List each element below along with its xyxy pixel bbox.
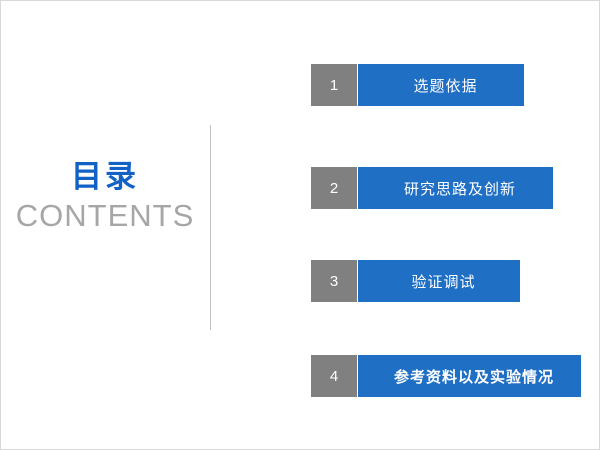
toc-item-3-number: 3 [311,260,357,302]
toc-item-3[interactable]: 3 验证调试 [311,260,520,302]
vertical-divider [210,125,211,330]
toc-item-2[interactable]: 2 研究思路及创新 [311,167,553,209]
toc-item-2-number: 2 [311,167,357,209]
toc-item-1[interactable]: 1 选题依据 [311,64,524,106]
slide-canvas: 目录 CONTENTS 1 选题依据 2 研究思路及创新 3 验证调试 4 参考… [0,0,600,450]
toc-title-en: CONTENTS [0,198,210,234]
toc-item-4-label: 参考资料以及实验情况 [358,355,581,397]
toc-item-1-number: 1 [311,64,357,106]
toc-item-4[interactable]: 4 参考资料以及实验情况 [311,355,581,397]
toc-item-3-label: 验证调试 [358,260,520,302]
toc-item-1-label: 选题依据 [358,64,524,106]
toc-item-list: 1 选题依据 2 研究思路及创新 3 验证调试 4 参考资料以及实验情况 [311,0,581,450]
toc-item-2-label: 研究思路及创新 [358,167,553,209]
toc-title-cn: 目录 [0,160,210,196]
toc-heading-block: 目录 CONTENTS [0,160,210,233]
toc-item-4-number: 4 [311,355,357,397]
